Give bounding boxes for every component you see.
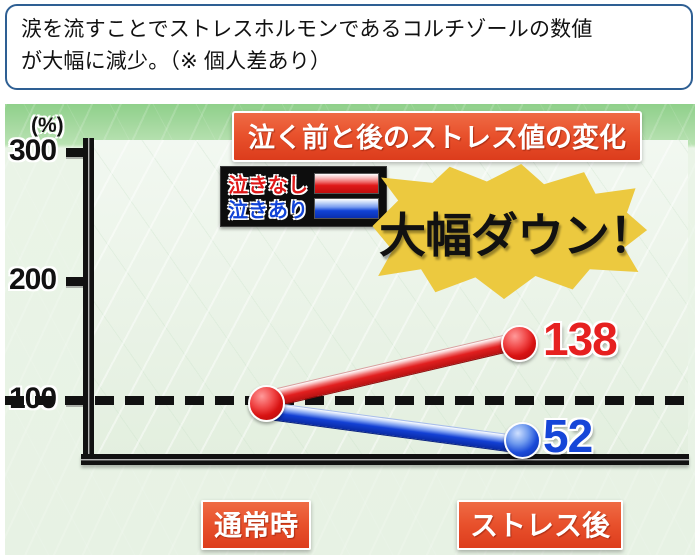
legend-item-red: 泣きなし <box>228 171 379 196</box>
value-label-naki-ari: 52 <box>543 409 592 463</box>
caption-line-2: が大幅に減少。（※ 個人差あり） <box>21 46 677 78</box>
caption-box: 涙を流すことでストレスホルモンであるコルチゾールの数値 が大幅に減少。（※ 個人… <box>5 4 693 90</box>
chart-panel: (%) 300 200 100 泣く前と後のストレス値の変化 泣きなし 泣きあり… <box>5 104 695 555</box>
reference-line-100 <box>5 396 695 405</box>
y-tick-mark-200 <box>66 277 83 286</box>
legend-swatch-red <box>314 173 379 194</box>
x-category-normal-label: 通常時 <box>214 510 298 541</box>
x-category-after-stress: ストレス後 <box>457 500 623 550</box>
data-marker-start <box>248 385 285 422</box>
chart-title-banner: 泣く前と後のストレス値の変化 <box>232 111 642 162</box>
legend: 泣きなし 泣きあり <box>220 166 387 227</box>
x-category-after-stress-label: ストレス後 <box>470 510 610 541</box>
value-label-naki-nashi: 138 <box>543 312 617 366</box>
legend-swatch-blue <box>314 198 379 219</box>
legend-label-naki-ari: 泣きあり <box>228 194 308 223</box>
starburst-text: 大幅ダウン！ <box>379 197 633 266</box>
x-axis <box>81 454 689 465</box>
y-tick-mark-300 <box>66 148 83 157</box>
data-marker-naki-ari-end <box>504 422 541 459</box>
legend-item-blue: 泣きあり <box>228 196 379 221</box>
caption-line-1: 涙を流すことでストレスホルモンであるコルチゾールの数値 <box>21 14 677 46</box>
data-marker-naki-nashi-end <box>501 325 538 362</box>
chart-title-text: 泣く前と後のストレス値の変化 <box>248 123 626 153</box>
x-category-normal: 通常時 <box>201 500 311 550</box>
